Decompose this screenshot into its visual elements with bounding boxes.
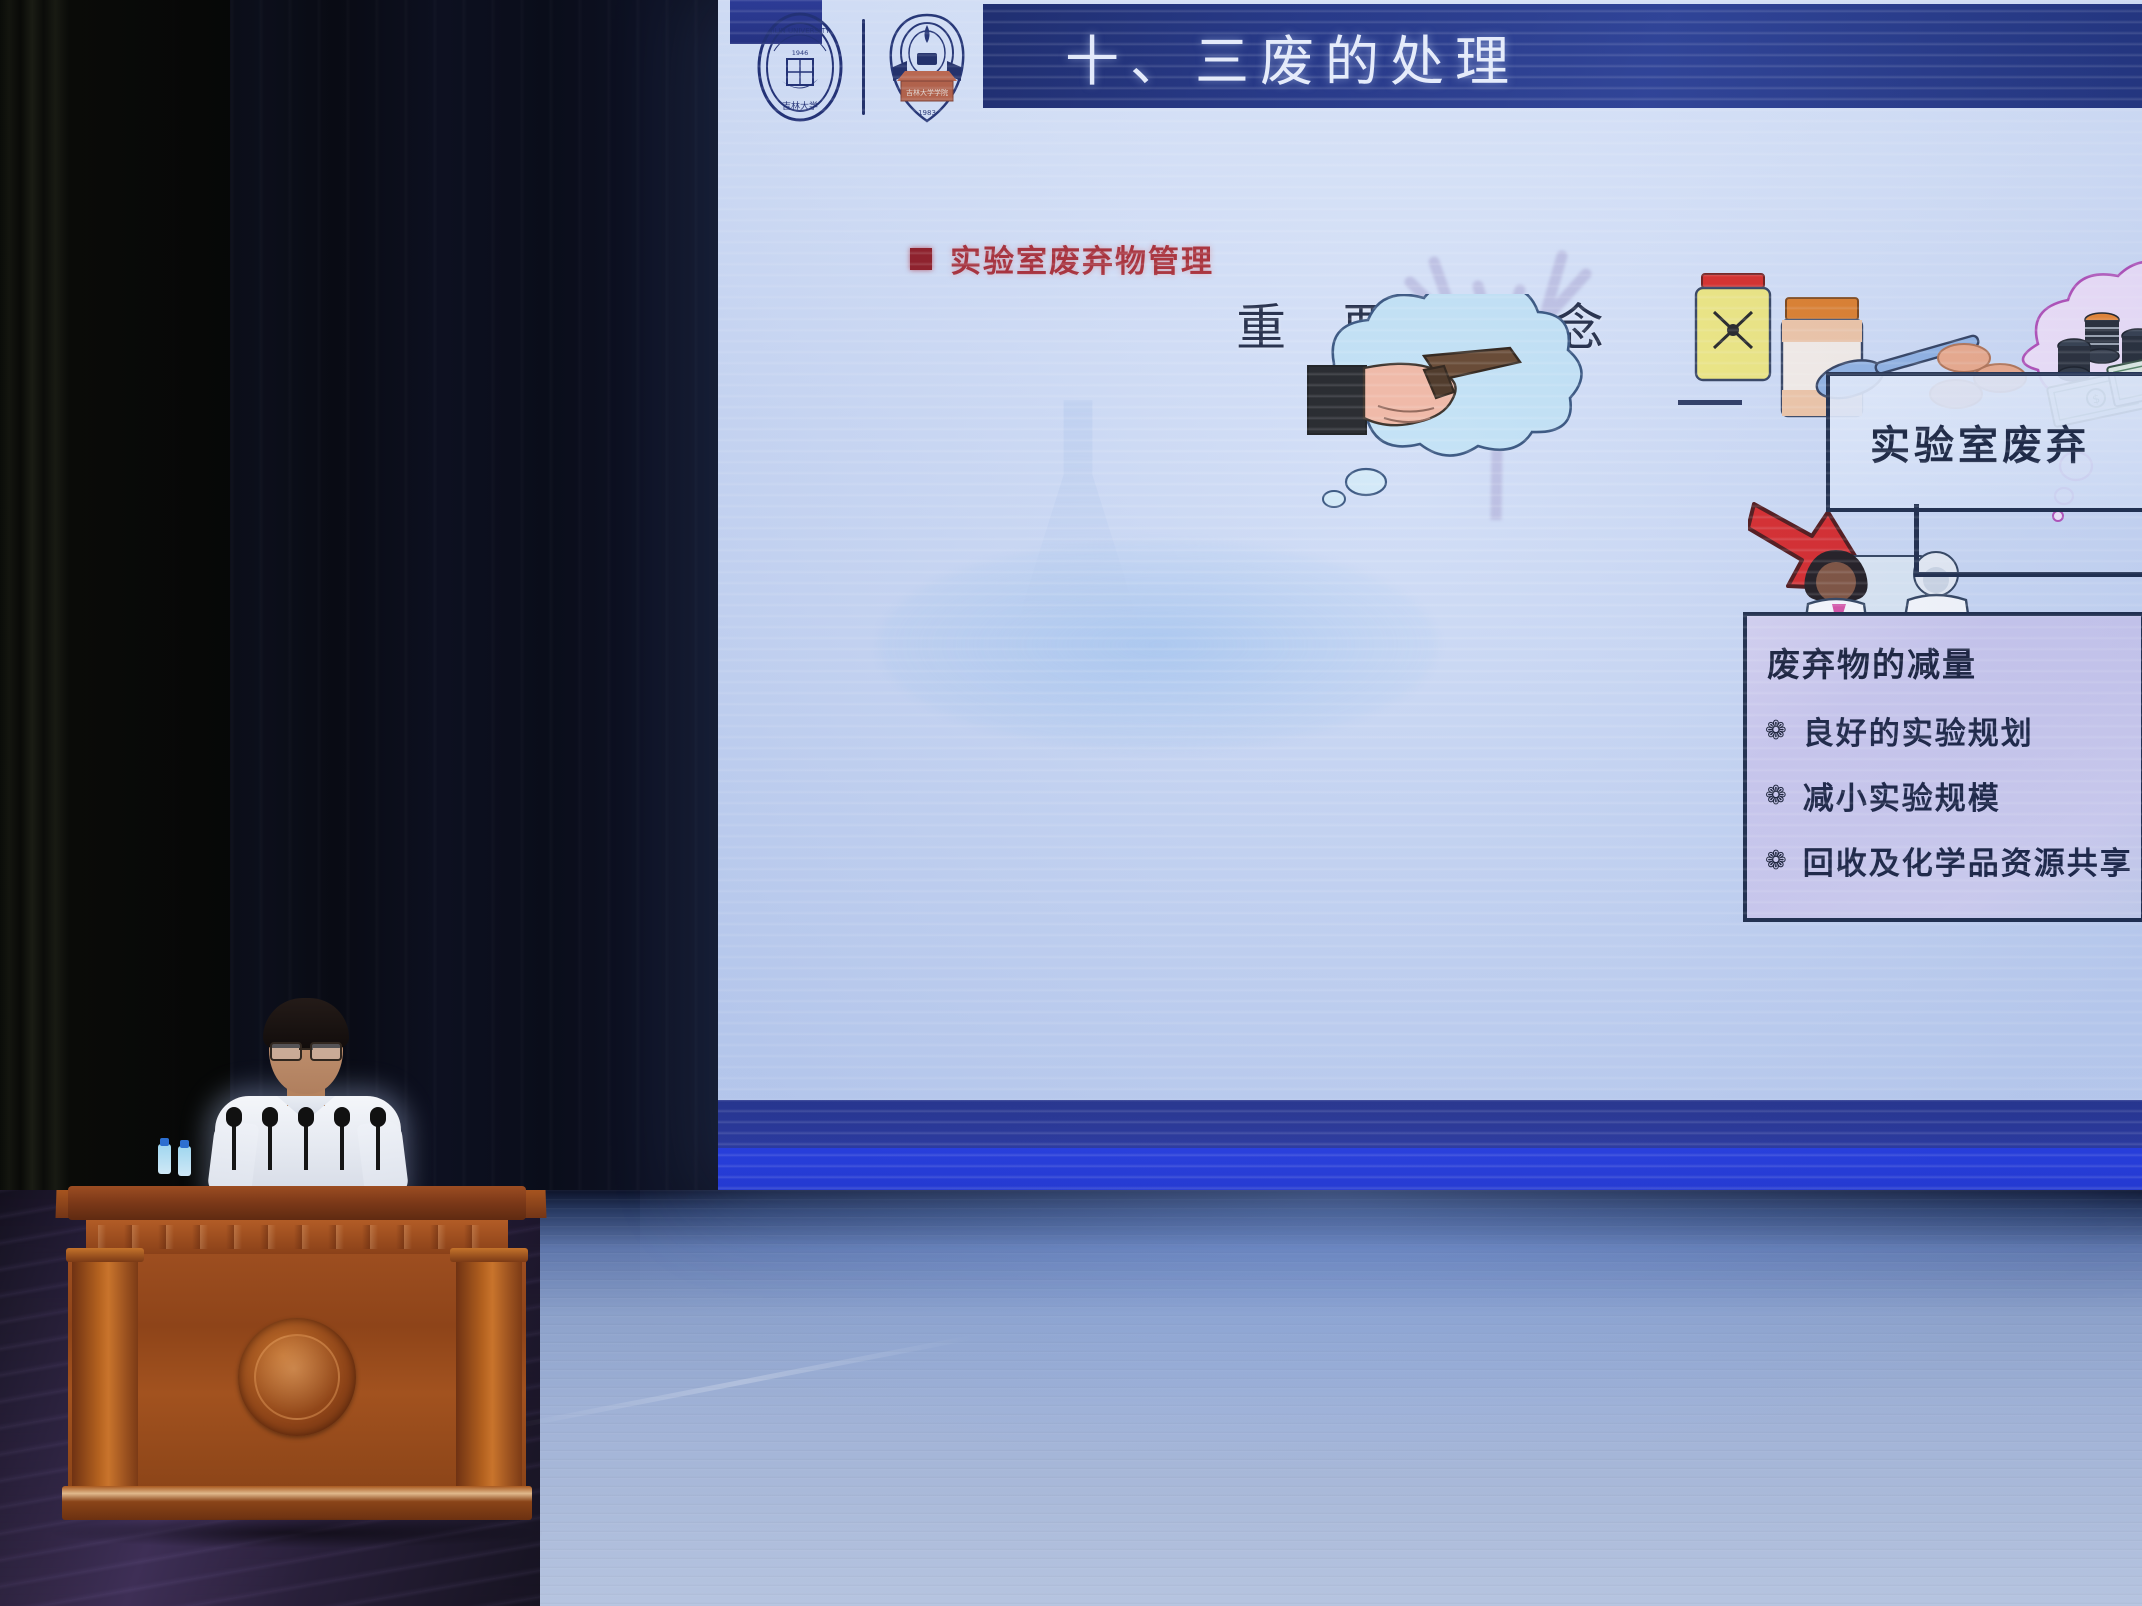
presenter-hair — [263, 998, 349, 1048]
podium-base-molding — [62, 1486, 532, 1520]
watermark-flask-icon — [1018, 400, 1138, 620]
flower-bullet-icon: ❁ — [1765, 718, 1787, 744]
svg-text:1946: 1946 — [792, 49, 809, 57]
slide-bottom-band-dark — [718, 1100, 2142, 1148]
connector-vertical-1 — [1914, 504, 1919, 576]
list-item: ❁ 回收及化学品资源共享 — [1765, 838, 2125, 883]
microphone-icon — [232, 1120, 236, 1170]
svg-text:吉林大学: 吉林大学 — [782, 100, 818, 112]
jilin-university-logo: JILIN UNIVERSITY 1946 吉林大学 — [754, 11, 846, 123]
microphone-icon — [340, 1120, 344, 1170]
svg-text:JILIN UNIVERSITY: JILIN UNIVERSITY — [769, 27, 830, 35]
waste-reduction-box: 废弃物的减量 ❁ 良好的实验规划 ❁ 减小实验规模 ❁ 回收及化学品资源共享 — [1743, 612, 2142, 922]
connector-lead-line — [1678, 400, 1742, 405]
podium-floor-shadow — [52, 1518, 542, 1548]
list-item: ❁ 减小实验规模 — [1765, 773, 2125, 818]
microphone-cluster — [228, 1108, 388, 1170]
floor-light-glow — [640, 1190, 2142, 1490]
projection-screen: JILIN UNIVERSITY 1946 吉林大学 — [718, 0, 2142, 1190]
water-bottle-icon — [178, 1146, 191, 1176]
microphone-icon — [304, 1120, 308, 1170]
logo-divider — [862, 19, 865, 115]
red-square-bullet-icon — [910, 248, 932, 270]
podium-top-surface — [68, 1186, 526, 1220]
water-bottle-icon — [158, 1144, 171, 1174]
slide-title-bar: 十、三废的处理 — [983, 4, 2142, 108]
section-bullet-label: 实验室废弃物管理 — [950, 236, 1214, 281]
slide-title: 十、三废的处理 — [1065, 17, 1520, 96]
podium-right-pillar — [456, 1254, 522, 1494]
podium-left-pillar — [72, 1254, 138, 1494]
svg-text:吉林大学学院: 吉林大学学院 — [906, 88, 948, 97]
university-crest-emblem — [238, 1318, 356, 1436]
hand-holding-gun-thought-bubble-icon — [1274, 294, 1604, 524]
lecture-hall-scene: JILIN UNIVERSITY 1946 吉林大学 — [0, 0, 2142, 1606]
podium — [68, 1186, 526, 1528]
podium-carved-frieze — [86, 1220, 508, 1257]
podium-right-pillar-cap — [450, 1248, 528, 1262]
slide-bottom-band-bright — [718, 1148, 2142, 1190]
microphone-icon — [268, 1120, 272, 1170]
eyeglasses-icon — [270, 1042, 342, 1057]
academy-logo: 吉林大学学院 1983 — [881, 9, 973, 125]
podium-left-pillar-cap — [66, 1248, 144, 1262]
svg-text:1983: 1983 — [918, 109, 936, 117]
list-item-label: 回收及化学品资源共享 — [1803, 838, 2133, 883]
section-bullet: 实验室废弃物管理 — [910, 236, 1214, 281]
list-item-label: 良好的实验规划 — [1803, 708, 2034, 753]
box-top-title: 实验室废弃 — [1870, 413, 2090, 471]
curtain-left-fold — [0, 0, 230, 1190]
logo-strip: JILIN UNIVERSITY 1946 吉林大学 — [754, 8, 973, 126]
flower-bullet-icon: ❁ — [1765, 848, 1787, 874]
box-top: 实验室废弃 — [1826, 372, 2142, 512]
list-item-label: 减小实验规模 — [1803, 773, 2001, 818]
microphone-icon — [376, 1120, 380, 1170]
flower-bullet-icon: ❁ — [1765, 783, 1787, 809]
connector-horizontal — [1914, 572, 2142, 577]
list-item: ❁ 良好的实验规划 — [1765, 708, 2125, 753]
waste-reduction-heading: 废弃物的减量 — [1767, 638, 2125, 686]
